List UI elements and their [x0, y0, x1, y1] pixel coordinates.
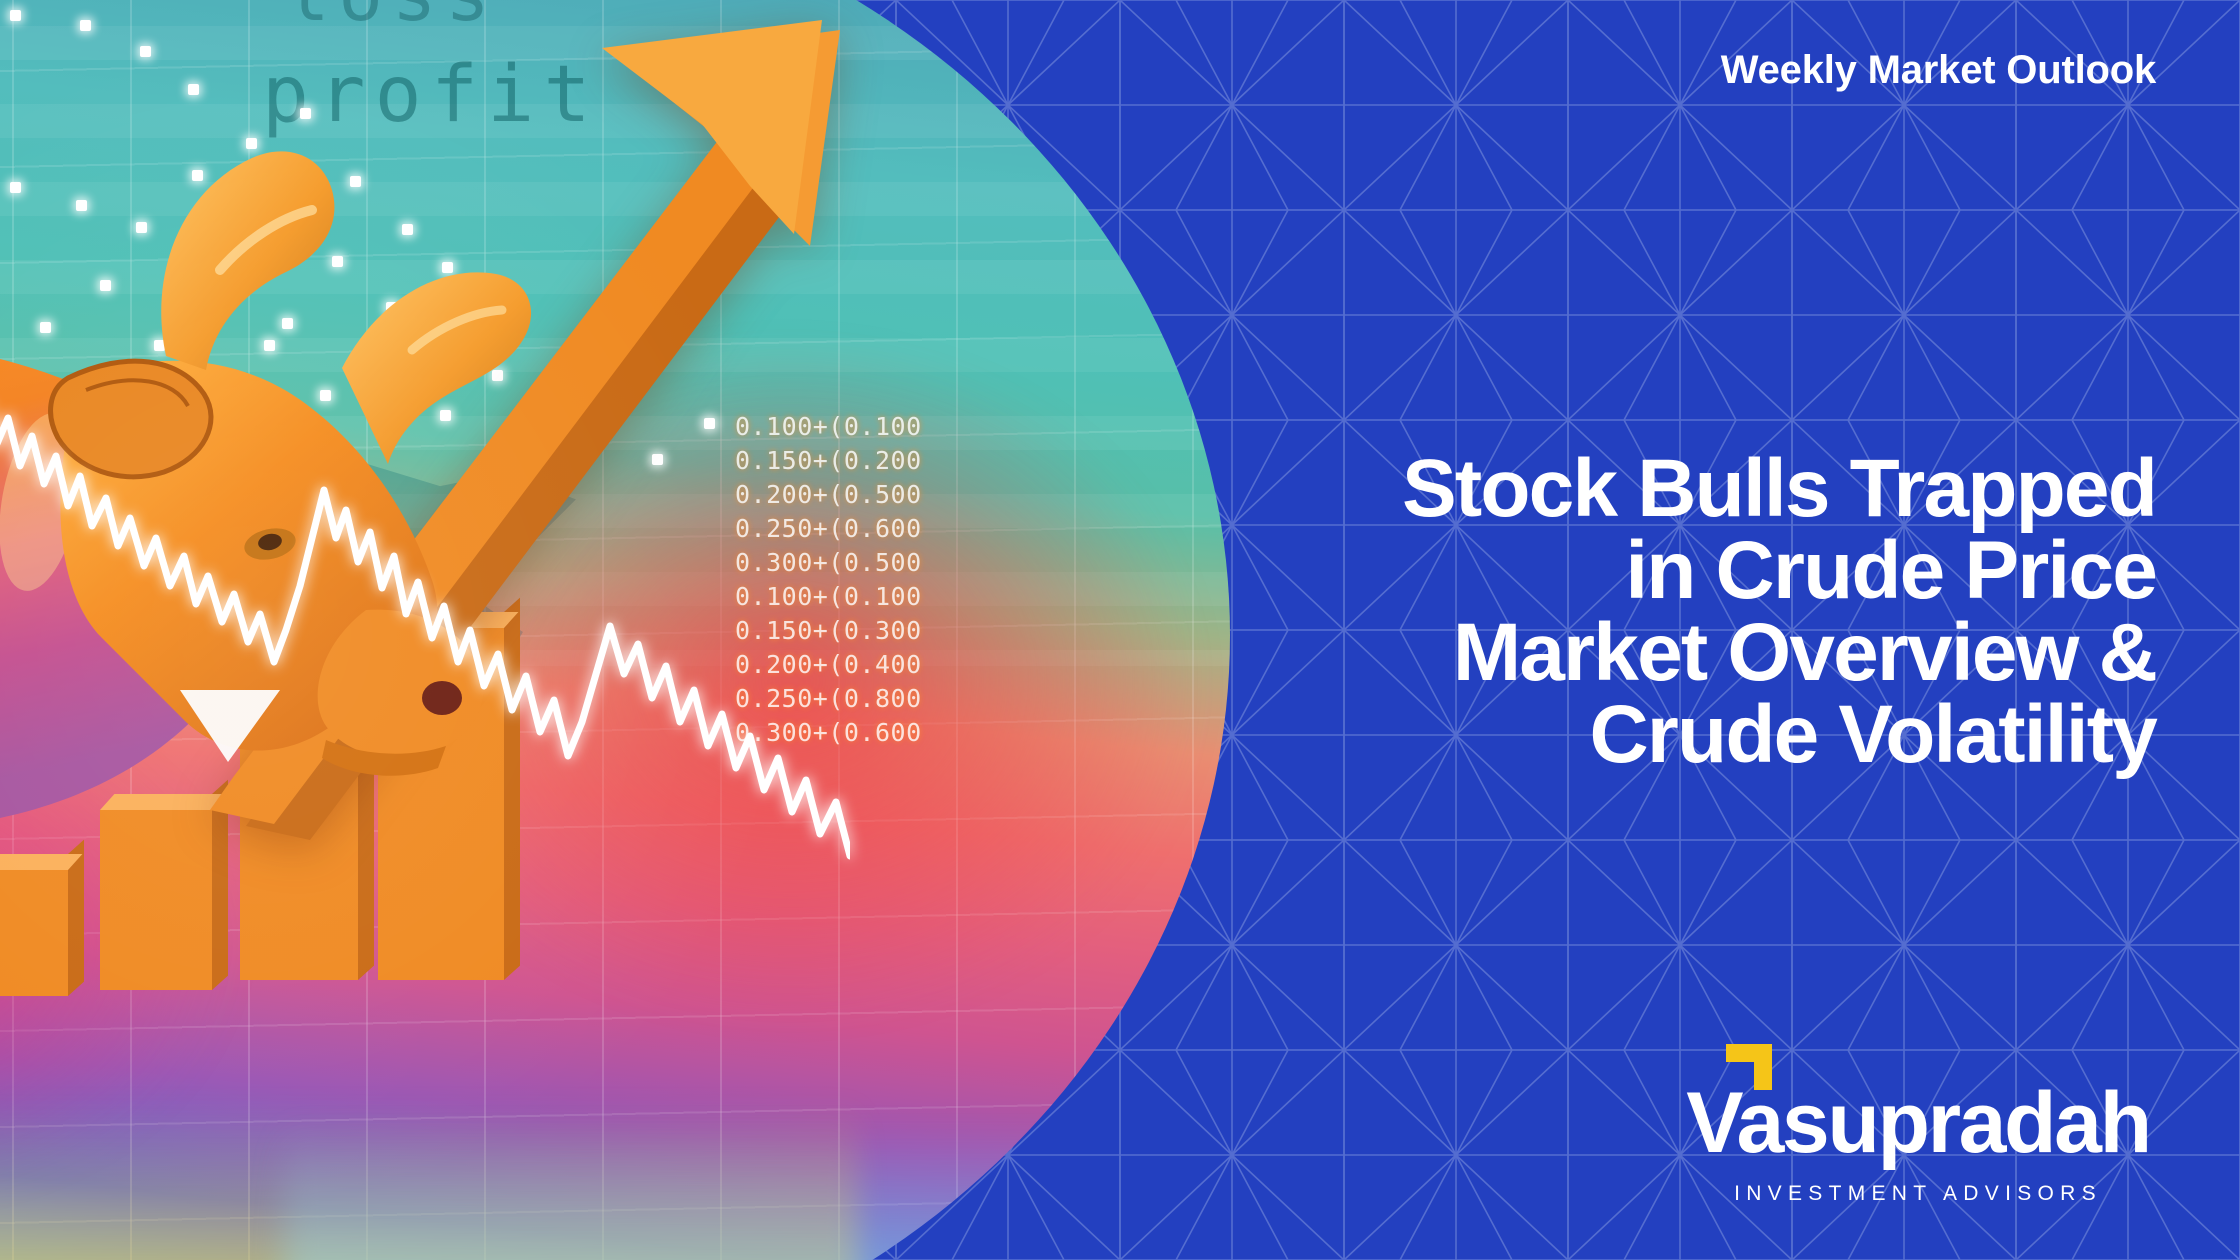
poster-canvas: growth loss profit 0.100+(0.1000.150+(0.…	[0, 0, 2240, 1260]
logo-tagline: INVESTMENT ADVISORS	[1678, 1182, 2158, 1206]
headline-line-4: Crude Volatility	[1066, 694, 2156, 776]
eyebrow-label: Weekly Market Outlook	[1721, 48, 2156, 93]
brand-logo: Vasupradah INVESTMENT ADVISORS	[1678, 1080, 2158, 1206]
cyan-floor-glow	[284, 1094, 1230, 1260]
volatility-line-chart	[0, 270, 850, 910]
logo-wordmark: Vasupradah	[1686, 1080, 2149, 1166]
hero-photo: growth loss profit 0.100+(0.1000.150+(0.…	[0, 0, 1230, 1260]
headline-line-2: in Crude Price	[1066, 530, 2156, 612]
sparkle-dot	[10, 10, 21, 21]
headline-line-3: Market Overview &	[1066, 612, 2156, 694]
sparkle-dot	[80, 20, 91, 31]
page-title: Stock Bulls Trapped in Crude Price Marke…	[1066, 448, 2156, 776]
corner-bracket-icon	[1726, 1044, 1772, 1090]
headline-line-1: Stock Bulls Trapped	[1066, 448, 2156, 530]
